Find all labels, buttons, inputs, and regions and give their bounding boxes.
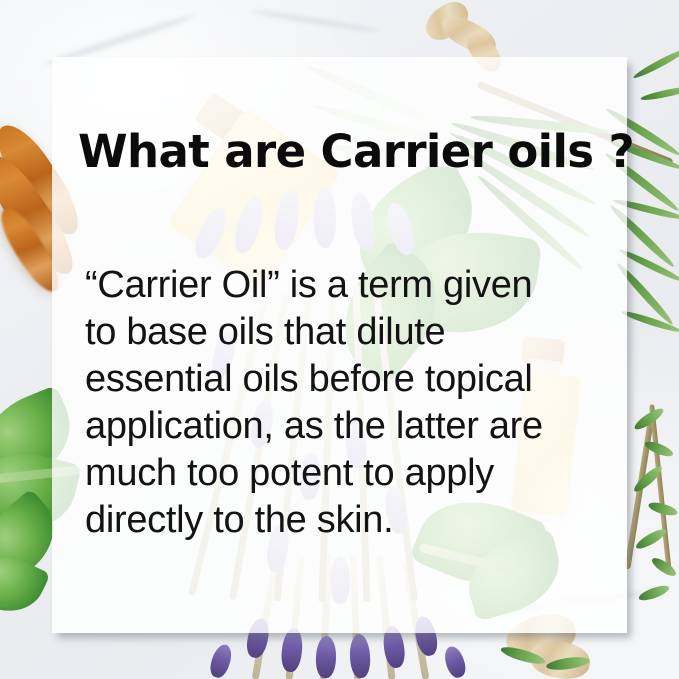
rosemary-needle xyxy=(640,85,679,103)
body-line: to base oils that dilute xyxy=(85,309,615,356)
thyme-branch xyxy=(649,404,672,574)
text-content-area: What are Carrier oils ? “Carrier Oil” is… xyxy=(52,57,627,633)
body-line: essential oils before topical xyxy=(85,356,615,403)
body-line: “Carrier Oil” is a term given xyxy=(85,262,615,309)
body-line: directly to the skin. xyxy=(85,497,615,544)
marble-vein xyxy=(250,8,379,34)
lavender-bud xyxy=(315,636,336,679)
rosemary-needle xyxy=(632,46,679,80)
lavender-bud xyxy=(349,634,371,679)
lavender-bud xyxy=(280,627,304,673)
thyme-leaf xyxy=(650,555,679,579)
thyme-leaf xyxy=(637,583,670,603)
body-line: much too potent to apply xyxy=(85,450,615,497)
infographic-canvas: What are Carrier oils ? “Carrier Oil” is… xyxy=(0,0,679,679)
page-title: What are Carrier oils ? xyxy=(78,125,634,178)
body-paragraph: “Carrier Oil” is a term given to base oi… xyxy=(85,262,615,544)
lavender-bud xyxy=(207,642,235,679)
lavender-bud xyxy=(441,644,468,679)
body-line: application, as the latter are xyxy=(85,403,615,450)
